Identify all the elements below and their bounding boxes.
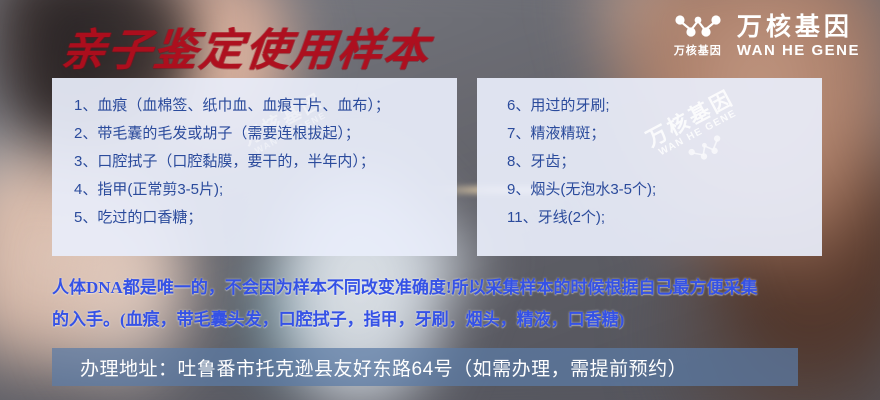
- molecule-icon: [673, 14, 723, 40]
- list-item: 11、牙线(2个);: [507, 204, 822, 232]
- sample-list-panel-right: 万核基因 WAN HE GENE 6、用过的牙刷: [477, 78, 822, 256]
- list-item: 3、口腔拭子（口腔黏膜，要干的，半年内）；: [74, 148, 457, 176]
- address-bar: 办理地址：吐鲁番市托克逊县友好东路64号（如需办理，需提前预约）: [52, 348, 798, 386]
- poster-canvas: 亲子鉴定使用样本 万核基因: [0, 0, 880, 400]
- dna-note-line-2: 的入手。(血痕，带毛囊头发，口腔拭子，指甲，牙刷，烟头，精液，口香糖): [52, 304, 842, 336]
- logo-mark-label: 万核基因: [674, 42, 722, 58]
- list-item: 1、血痕（血棉签、纸巾血、血痕干片、血布）；: [74, 92, 457, 120]
- list-item: 6、用过的牙刷;: [507, 92, 822, 120]
- logo-mark: 万核基因: [673, 14, 723, 58]
- brand-logo: 万核基因 万核基因 WAN HE GENE: [673, 14, 860, 58]
- sample-list-left: 1、血痕（血棉签、纸巾血、血痕干片、血布）； 2、带毛囊的毛发或胡子（需要连根拔…: [52, 78, 457, 232]
- sample-list-right: 6、用过的牙刷; 7、精液精斑； 8、牙齿； 9、烟头(无泡水3-5个); 11…: [477, 78, 822, 232]
- logo-name-en: WAN HE GENE: [737, 43, 860, 58]
- list-item: 7、精液精斑；: [507, 120, 822, 148]
- logo-name-cn: 万核基因: [737, 14, 860, 40]
- list-item: 9、烟头(无泡水3-5个);: [507, 176, 822, 204]
- list-item: 5、吃过的口香糖；: [74, 204, 457, 232]
- list-item: 2、带毛囊的毛发或胡子（需要连根拔起）；: [74, 120, 457, 148]
- list-item: 4、指甲(正常剪3-5片);: [74, 176, 457, 204]
- logo-wordmark: 万核基因 WAN HE GENE: [737, 14, 860, 57]
- sample-list-panel-left: 万核基因 WAN HE GENE 1、血痕（血棉签、纸巾血、血痕干片、血布）； …: [52, 78, 457, 256]
- page-title: 亲子鉴定使用样本: [59, 14, 434, 78]
- address-text: 办理地址：吐鲁番市托克逊县友好东路64号（如需办理，需提前预约）: [80, 354, 687, 381]
- list-item: 8、牙齿；: [507, 148, 822, 176]
- dna-note-line-1: 人体DNA都是唯一的，不会因为样本不同改变准确度!所以采集样本的时候根据自己最方…: [52, 272, 842, 304]
- dna-note: 人体DNA都是唯一的，不会因为样本不同改变准确度!所以采集样本的时候根据自己最方…: [52, 272, 842, 336]
